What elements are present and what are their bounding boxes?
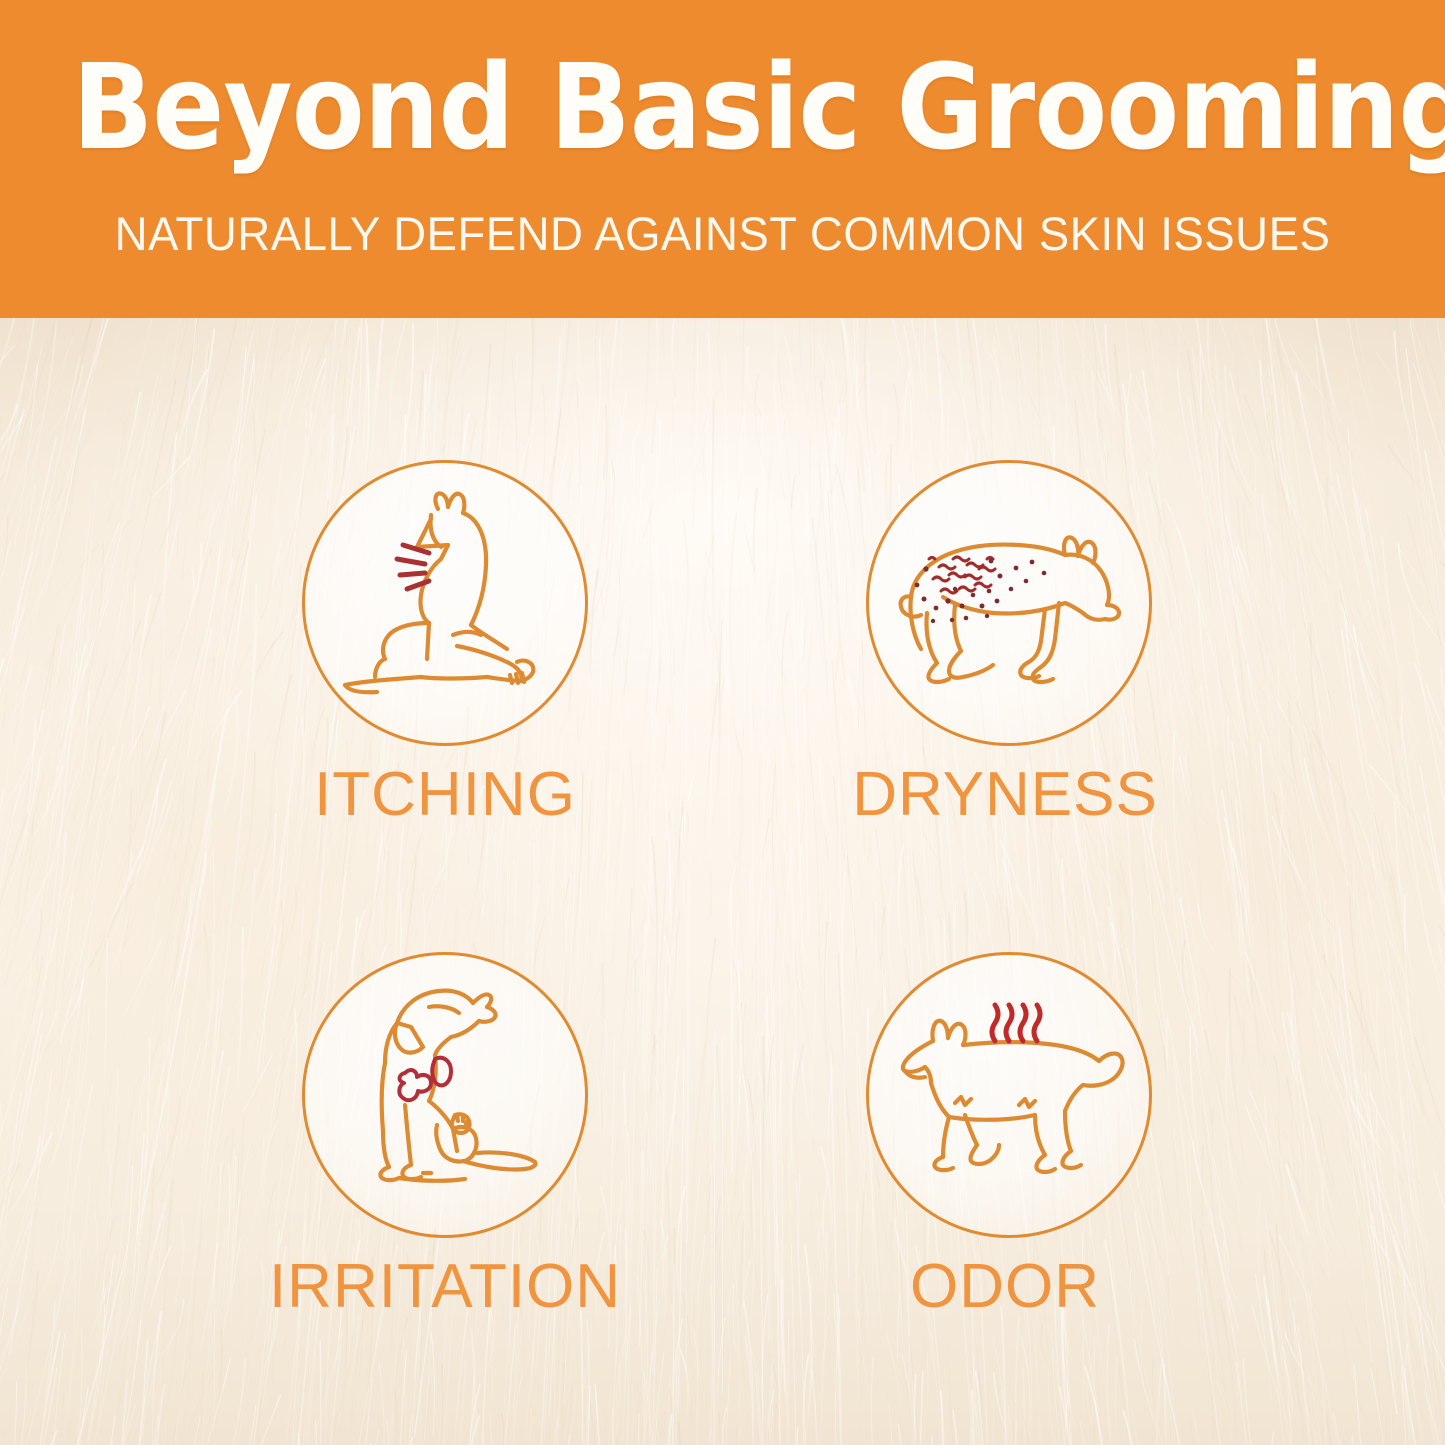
- issue-card-itching[interactable]: ITCHING: [230, 460, 660, 930]
- issue-label-itching: ITCHING: [230, 760, 660, 830]
- promo-infographic: Beyond Basic Grooming NATURALLY DEFEND A…: [0, 0, 1445, 1445]
- icon-circle-irritation: [302, 952, 588, 1238]
- dog-scratching-icon: [305, 463, 588, 746]
- issue-label-irritation: IRRITATION: [230, 1252, 660, 1322]
- dog-walking-odor-icon: [869, 955, 1152, 1238]
- dog-sitting-irritated-patch-icon: [305, 955, 588, 1238]
- dog-flaky-skin-icon: [869, 463, 1152, 746]
- page-subtitle: NATURALLY DEFEND AGAINST COMMON SKIN ISS…: [22, 206, 1424, 262]
- stink-waves: [992, 1005, 1040, 1041]
- issue-label-dryness: DRYNESS: [790, 760, 1220, 830]
- page-title: Beyond Basic Grooming: [72, 44, 1373, 170]
- issue-grid: ITCHING: [0, 318, 1445, 1445]
- dandruff-flakes: [929, 557, 995, 593]
- icon-circle-itching: [302, 460, 588, 746]
- issue-card-dryness[interactable]: DRYNESS: [790, 460, 1220, 930]
- icon-circle-odor: [866, 952, 1152, 1238]
- header-banner: Beyond Basic Grooming NATURALLY DEFEND A…: [0, 0, 1445, 318]
- scratch-motion-lines: [397, 545, 429, 589]
- red-irritated-patches: [399, 1058, 451, 1100]
- issue-label-odor: ODOR: [790, 1252, 1220, 1322]
- icon-circle-dryness: [866, 460, 1152, 746]
- issue-card-odor[interactable]: ODOR: [790, 952, 1220, 1422]
- issue-card-irritation[interactable]: IRRITATION: [230, 952, 660, 1422]
